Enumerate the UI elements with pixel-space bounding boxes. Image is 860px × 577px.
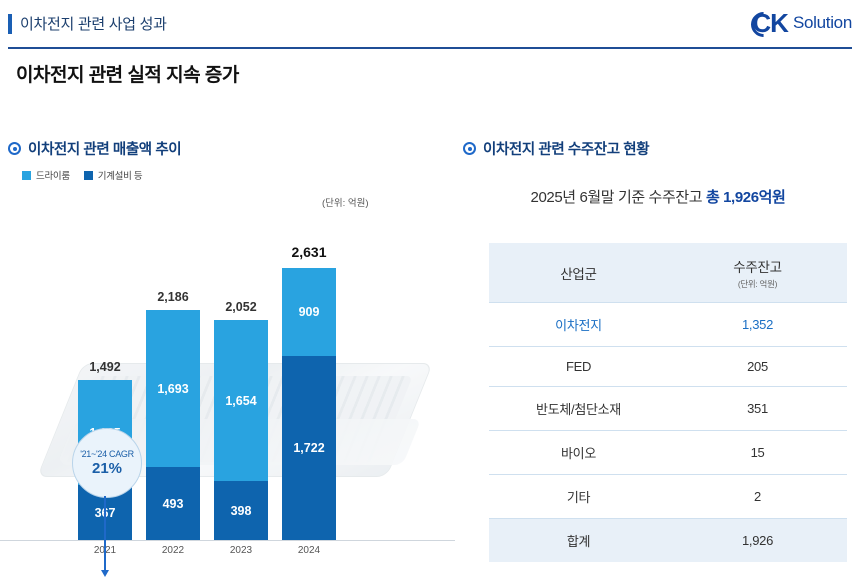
table-header-row: 산업군 수주잔고 (단위: 억원) bbox=[489, 243, 847, 303]
legend-swatch-dryroom bbox=[22, 171, 31, 180]
order-backlog-summary-prefix: 2025년 6월말 기준 수주잔고 bbox=[531, 189, 703, 206]
left-section-heading: 이차전지 관련 매출액 추이 bbox=[8, 138, 181, 159]
column-header-backlog: 수주잔고 (단위: 억원) bbox=[668, 243, 847, 303]
cell-value: 2 bbox=[668, 475, 847, 519]
table-row: 바이오 15 bbox=[489, 431, 847, 475]
bullet-icon bbox=[8, 142, 21, 155]
cell-category: 합계 bbox=[489, 519, 668, 563]
legend-label-equipment: 기계설비 등 bbox=[98, 168, 143, 182]
x-axis-label-2024: 2024 bbox=[269, 545, 349, 556]
cell-value: 15 bbox=[668, 431, 847, 475]
legend-item-equipment: 기계설비 등 bbox=[84, 168, 143, 182]
legend-swatch-equipment bbox=[84, 171, 93, 180]
order-backlog-summary: 2025년 6월말 기준 수주잔고 총 1,926억원 bbox=[463, 186, 853, 207]
bar-segment-label-equipment-2023: 398 bbox=[231, 504, 252, 518]
revenue-bar-chart: 1,492 1,125 367 2021 2,186 1,693 493 202… bbox=[0, 200, 455, 560]
bar-segment-dryroom-2024: 909 bbox=[282, 268, 336, 356]
cell-value: 1,926 bbox=[668, 519, 847, 563]
bar-segment-dryroom-2023: 1,654 bbox=[214, 320, 268, 481]
order-backlog-summary-highlight: 총 1,926억원 bbox=[706, 189, 786, 206]
company-logo: CK Solution bbox=[752, 8, 852, 38]
cell-category: 기타 bbox=[489, 475, 668, 519]
header-accent-bar bbox=[8, 14, 12, 34]
cell-category: 반도체/첨단소재 bbox=[489, 387, 668, 431]
right-section-label: 이차전지 관련 수주잔고 현황 bbox=[483, 138, 649, 159]
cell-value: 351 bbox=[668, 387, 847, 431]
x-axis-line bbox=[0, 540, 455, 541]
cagr-arrow-icon bbox=[104, 496, 106, 572]
bar-segment-label-equipment-2024: 1,722 bbox=[293, 441, 324, 455]
cell-category: 이차전지 bbox=[489, 303, 668, 347]
bar-segment-equipment-2023: 398 bbox=[214, 481, 268, 540]
bar-segment-equipment-2022: 493 bbox=[146, 467, 200, 540]
left-section-label: 이차전지 관련 매출액 추이 bbox=[28, 138, 181, 159]
bullet-icon bbox=[463, 142, 476, 155]
bar-segment-dryroom-2022: 1,693 bbox=[146, 310, 200, 467]
logo-wordmark: Solution bbox=[793, 13, 852, 33]
cell-value: 1,352 bbox=[668, 303, 847, 347]
bar-segment-label-equipment-2022: 493 bbox=[163, 497, 184, 511]
header-title: 이차전지 관련 사업 성과 bbox=[20, 13, 167, 34]
column-header-backlog-text: 수주잔고 bbox=[733, 260, 781, 275]
table-row: 반도체/첨단소재 351 bbox=[489, 387, 847, 431]
bar-total-2021: 1,492 bbox=[65, 360, 145, 374]
bar-segment-label-dryroom-2023: 1,654 bbox=[225, 394, 256, 408]
chart-legend: 드라이룸 기계설비 등 bbox=[22, 168, 142, 182]
bar-segment-label-dryroom-2024: 909 bbox=[299, 305, 320, 319]
table-row: 기타 2 bbox=[489, 475, 847, 519]
cagr-value: 21% bbox=[92, 460, 122, 477]
page-header: 이차전지 관련 사업 성과 CK Solution bbox=[0, 0, 860, 48]
cell-value: 205 bbox=[668, 347, 847, 387]
page-title: 이차전지 관련 실적 지속 증가 bbox=[16, 60, 239, 87]
cell-category: 바이오 bbox=[489, 431, 668, 475]
cagr-label: '21~'24 CAGR bbox=[80, 449, 134, 459]
bar-total-2024: 2,631 bbox=[269, 244, 349, 260]
order-backlog-table: 산업군 수주잔고 (단위: 억원) 이차전지 1,352 FED 205 반도체… bbox=[489, 243, 847, 562]
legend-item-dryroom: 드라이룸 bbox=[22, 168, 70, 182]
header-divider bbox=[8, 47, 852, 49]
bar-segment-label-dryroom-2022: 1,693 bbox=[157, 382, 188, 396]
cell-category: FED bbox=[489, 347, 668, 387]
cagr-callout: '21~'24 CAGR 21% bbox=[72, 428, 142, 498]
table-row: FED 205 bbox=[489, 347, 847, 387]
logo-mark: CK bbox=[752, 10, 788, 36]
column-header-category: 산업군 bbox=[489, 243, 668, 303]
table-row: 이차전지 1,352 bbox=[489, 303, 847, 347]
table-row-total: 합계 1,926 bbox=[489, 519, 847, 563]
bar-total-2023: 2,052 bbox=[201, 300, 281, 314]
bar-area: 1,492 1,125 367 2021 2,186 1,693 493 202… bbox=[0, 200, 455, 560]
column-header-unit: (단위: 억원) bbox=[668, 278, 847, 290]
bar-segment-equipment-2024: 1,722 bbox=[282, 356, 336, 540]
legend-label-dryroom: 드라이룸 bbox=[36, 168, 70, 182]
right-section-heading: 이차전지 관련 수주잔고 현황 bbox=[463, 138, 649, 159]
